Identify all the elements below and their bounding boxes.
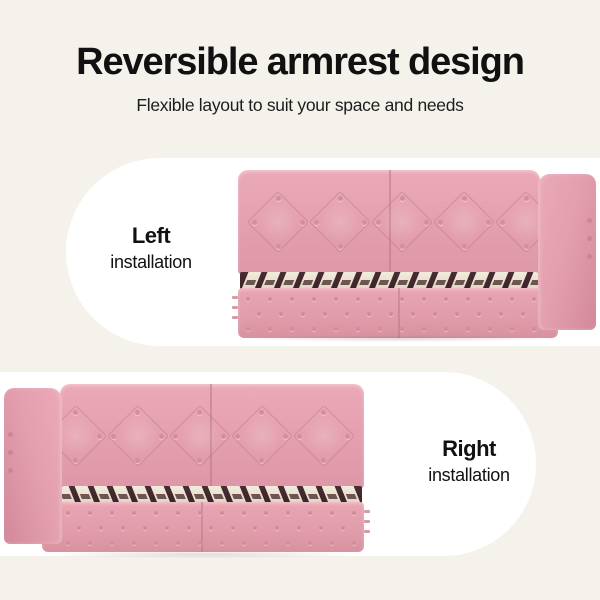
tuft-button-icon — [367, 312, 371, 316]
tuft-button-icon — [279, 312, 283, 316]
armrest-stud-icon — [587, 218, 592, 223]
tuft-button-icon — [187, 526, 191, 530]
tuft-button-icon — [286, 541, 290, 545]
tuft-button-icon — [132, 511, 136, 515]
tuft-button-icon — [301, 312, 305, 316]
tuft-button-icon — [312, 297, 316, 301]
armrest-panel — [4, 388, 62, 544]
tuft-button-icon — [308, 541, 312, 545]
armrest-stud-icon — [587, 254, 592, 259]
tuft-button-icon — [257, 312, 261, 316]
armrest-stud-icon — [8, 450, 13, 455]
tuft-button-icon — [477, 312, 481, 316]
tuft-button-icon — [220, 541, 224, 545]
product-feature-graphic: Reversible armrest design Flexible layou… — [0, 0, 600, 600]
tuft-button-icon — [99, 526, 103, 530]
tuft-button-icon — [165, 526, 169, 530]
tuft-button-icon — [176, 541, 180, 545]
tuft-button-icon — [499, 312, 503, 316]
tuft-button-icon — [110, 511, 114, 515]
tuft-button-icon — [253, 526, 257, 530]
tuft-button-icon — [176, 511, 180, 515]
tuft-button-icon — [338, 244, 343, 249]
tuft-button-icon — [220, 511, 224, 515]
frame-hardware-icon — [232, 296, 238, 299]
diamond-tufting — [72, 400, 352, 472]
tuft-button-icon — [389, 312, 393, 316]
armrest-stud-icon — [8, 432, 13, 437]
tuft-button-icon — [466, 327, 470, 331]
tuft-button-icon — [154, 511, 158, 515]
tuft-button-icon — [330, 511, 334, 515]
tuft-button-icon — [308, 511, 312, 515]
tuft-button-icon — [362, 220, 367, 225]
frame-hardware-icon — [364, 520, 370, 523]
tuft-button-icon — [323, 312, 327, 316]
frame-hardware-icon — [364, 510, 370, 513]
tuft-button-icon — [345, 312, 349, 316]
diamond-tufting — [250, 186, 528, 258]
daybed-frame — [0, 374, 372, 556]
tuft-button-icon — [334, 297, 338, 301]
tuft-button-icon — [110, 541, 114, 545]
headboard-panel — [238, 170, 540, 274]
tuft-button-icon — [297, 526, 301, 530]
tuft-button-icon — [290, 327, 294, 331]
tuft-button-icon — [264, 541, 268, 545]
tuft-button-icon — [154, 541, 158, 545]
tuft-button-icon — [422, 327, 426, 331]
tuft-button-icon — [242, 541, 246, 545]
tuft-button-icon — [433, 312, 437, 316]
tuft-button-icon — [488, 327, 492, 331]
tuft-button-icon — [422, 297, 426, 301]
tuft-button-icon — [264, 511, 268, 515]
tuft-button-icon — [500, 220, 505, 225]
tuft-button-icon — [121, 526, 125, 530]
tuft-button-icon — [252, 220, 257, 225]
label-left-secondary: installation — [86, 250, 216, 274]
tuft-button-icon — [314, 220, 319, 225]
tuft-button-icon — [356, 297, 360, 301]
tuft-button-icon — [462, 244, 467, 249]
page-subtitle: Flexible layout to suit your space and n… — [0, 95, 600, 116]
tuft-button-icon — [231, 526, 235, 530]
label-right-secondary: installation — [399, 463, 539, 487]
tuft-button-icon — [444, 327, 448, 331]
tuft-button-icon — [242, 511, 246, 515]
tuft-button-icon — [532, 297, 536, 301]
tuft-button-icon — [198, 511, 202, 515]
tuft-button-icon — [510, 297, 514, 301]
tuft-button-icon — [400, 327, 404, 331]
tuft-button-icon — [378, 297, 382, 301]
tuft-button-icon — [488, 297, 492, 301]
tuft-button-icon — [66, 511, 70, 515]
tuft-button-icon — [276, 244, 281, 249]
armrest-panel — [538, 174, 596, 330]
tuft-button-icon — [209, 526, 213, 530]
tuft-button-icon — [143, 526, 147, 530]
label-right-installation: Right installation — [399, 437, 539, 487]
tuft-button-icon — [444, 297, 448, 301]
tuft-button-icon — [312, 327, 316, 331]
tuft-button-icon — [246, 327, 250, 331]
tuft-button-icon — [334, 327, 338, 331]
tuft-button-icon — [524, 196, 529, 201]
tuft-button-icon — [376, 220, 381, 225]
tuft-button-icon — [77, 526, 81, 530]
tuft-button-icon — [88, 541, 92, 545]
label-left-installation: Left installation — [86, 224, 216, 274]
page-title: Reversible armrest design — [0, 41, 600, 84]
armrest-stud-icon — [8, 468, 13, 473]
headboard-panel — [60, 384, 364, 488]
base-panel — [238, 288, 558, 338]
tuft-button-icon — [198, 541, 202, 545]
tuft-button-icon — [290, 297, 294, 301]
tuft-button-icon — [246, 297, 250, 301]
tuft-button-icon — [411, 312, 415, 316]
tuft-button-icon — [466, 297, 470, 301]
tuft-button-icon — [524, 244, 529, 249]
tuft-button-icon — [521, 312, 525, 316]
tuft-button-icon — [438, 220, 443, 225]
product-image-right-installation — [0, 374, 372, 556]
tuft-button-icon — [532, 327, 536, 331]
tuft-button-icon — [275, 526, 279, 530]
armrest-stud-icon — [587, 236, 592, 241]
tuft-button-icon — [356, 327, 360, 331]
tuft-button-icon — [462, 196, 467, 201]
tuft-button-icon — [341, 526, 345, 530]
tuft-button-icon — [352, 511, 356, 515]
tuft-button-icon — [276, 196, 281, 201]
tuft-button-icon — [66, 541, 70, 545]
tuft-button-icon — [286, 511, 290, 515]
tuft-button-icon — [424, 220, 429, 225]
tuft-button-icon — [400, 196, 405, 201]
daybed-frame — [230, 160, 600, 340]
frame-hardware-icon — [232, 316, 238, 319]
tuft-button-icon — [300, 220, 305, 225]
header: Reversible armrest design Flexible layou… — [0, 0, 600, 150]
tuft-button-icon — [268, 327, 272, 331]
tuft-button-icon — [510, 327, 514, 331]
tuft-button-icon — [486, 220, 491, 225]
contact-shadow — [244, 335, 554, 342]
tuft-button-icon — [330, 541, 334, 545]
base-panel — [42, 502, 364, 552]
frame-hardware-icon — [232, 306, 238, 309]
tuft-button-icon — [378, 327, 382, 331]
contact-shadow — [46, 551, 358, 558]
tuft-button-icon — [338, 196, 343, 201]
tuft-button-icon — [455, 312, 459, 316]
label-left-primary: Left — [86, 224, 216, 248]
tuft-button-icon — [400, 297, 404, 301]
tuft-button-icon — [88, 511, 92, 515]
tuft-button-icon — [319, 526, 323, 530]
tuft-button-icon — [352, 541, 356, 545]
tuft-button-icon — [132, 541, 136, 545]
frame-hardware-icon — [364, 530, 370, 533]
label-right-primary: Right — [399, 437, 539, 461]
tuft-button-icon — [400, 244, 405, 249]
product-image-left-installation — [230, 160, 600, 340]
tuft-button-icon — [268, 297, 272, 301]
